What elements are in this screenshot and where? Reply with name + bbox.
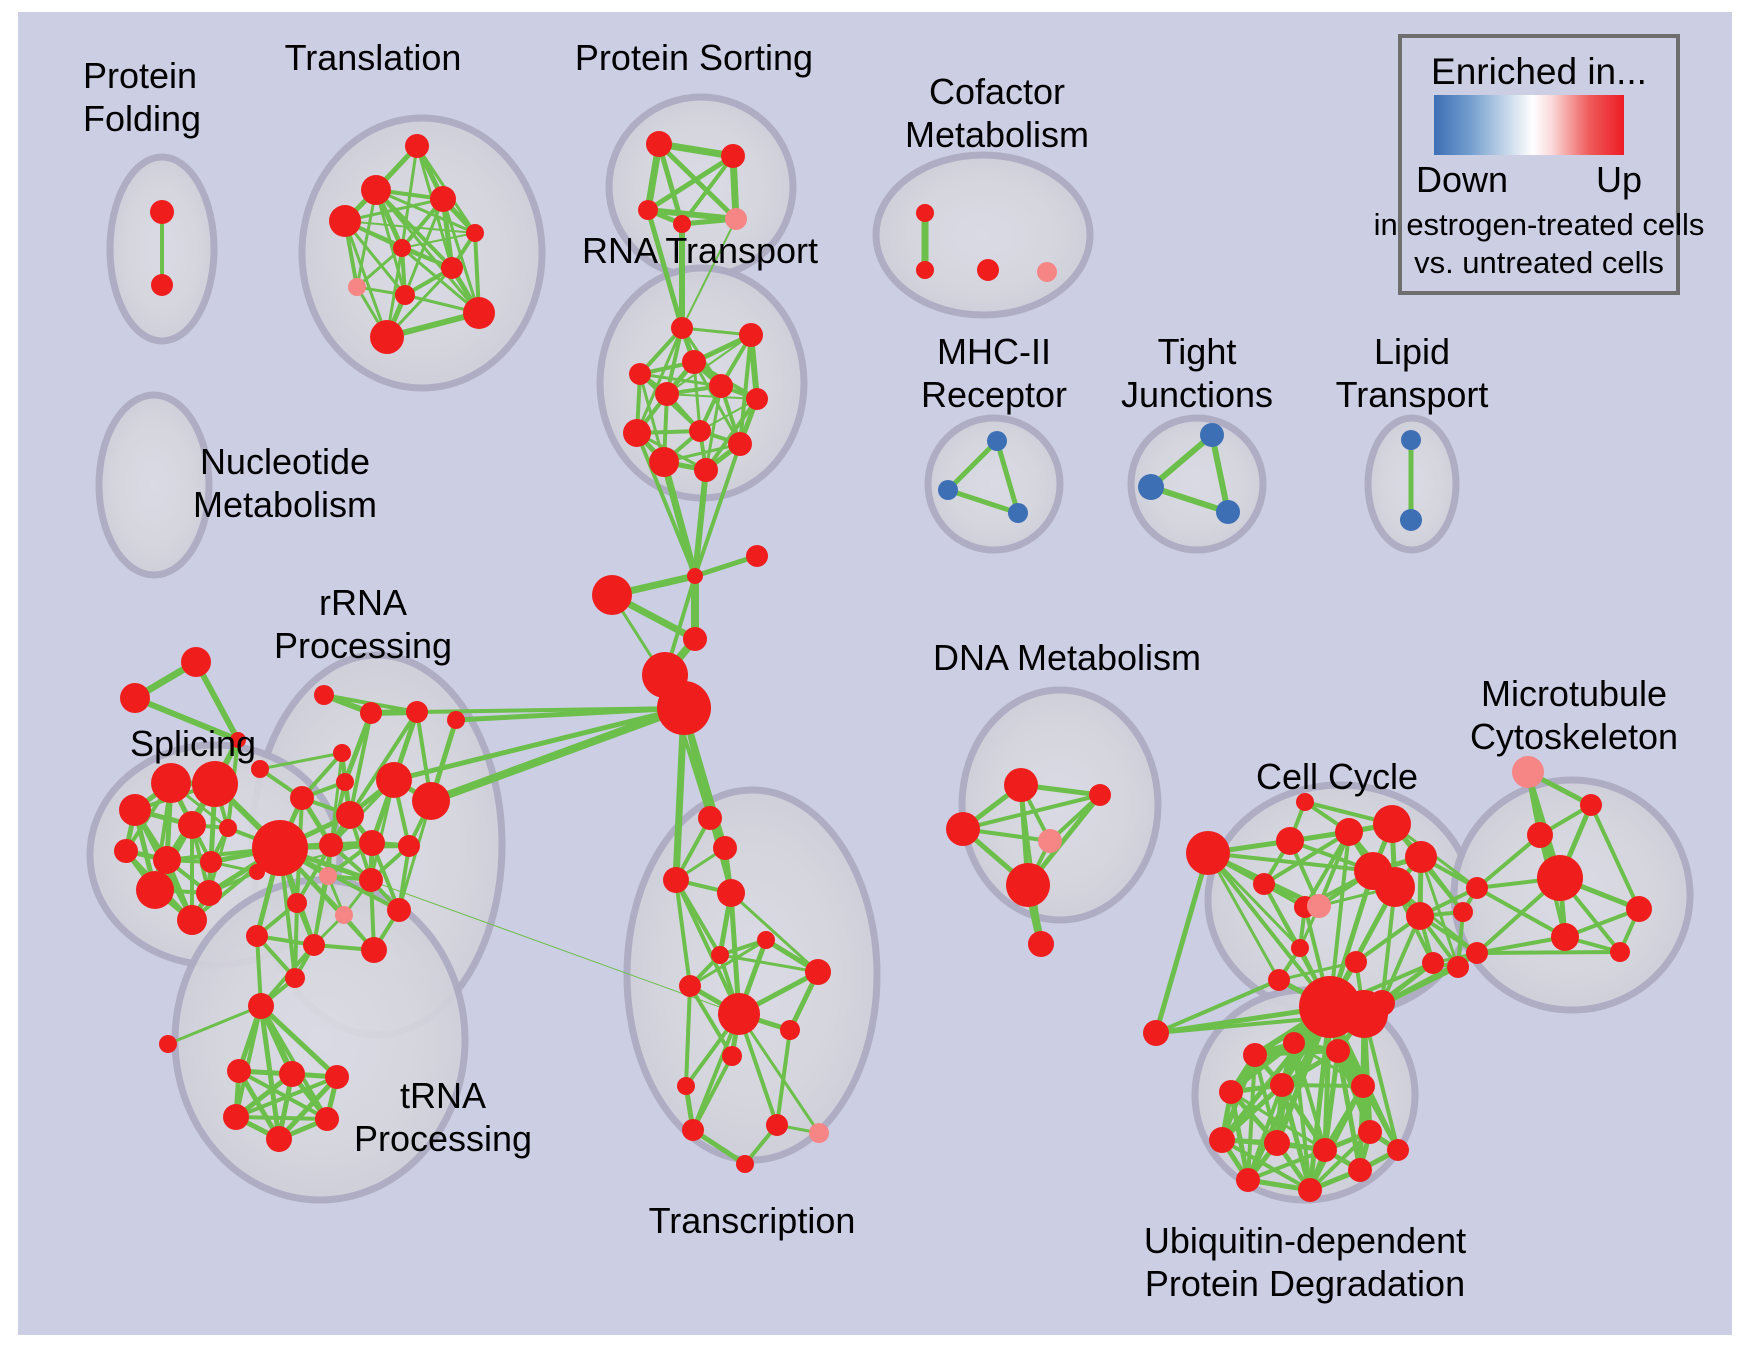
- cluster-label-line: Metabolism: [193, 484, 377, 525]
- network-node[interactable]: [709, 374, 733, 398]
- network-node[interactable]: [739, 323, 763, 347]
- network-node[interactable]: [159, 1035, 177, 1053]
- network-edge: [236, 1117, 327, 1119]
- network-node[interactable]: [718, 993, 760, 1035]
- legend-up-label: Up: [1596, 159, 1642, 200]
- network-node[interactable]: [679, 975, 701, 997]
- network-node[interactable]: [248, 993, 274, 1019]
- network-node[interactable]: [1345, 951, 1367, 973]
- network-node[interactable]: [766, 1114, 788, 1136]
- cluster-label-line: tRNA: [400, 1075, 486, 1116]
- cluster-label-line: Ubiquitin-dependent: [1144, 1220, 1466, 1261]
- network-node[interactable]: [938, 480, 958, 500]
- network-node[interactable]: [1447, 956, 1469, 978]
- network-node[interactable]: [1236, 1168, 1260, 1192]
- network-node[interactable]: [1610, 942, 1630, 962]
- network-node[interactable]: [1422, 952, 1444, 974]
- network-node[interactable]: [1004, 768, 1038, 802]
- network-node[interactable]: [977, 259, 999, 281]
- network-node[interactable]: [728, 432, 752, 456]
- network-node[interactable]: [1219, 1080, 1243, 1104]
- network-node[interactable]: [348, 278, 366, 296]
- network-node[interactable]: [151, 274, 173, 296]
- cluster-label-line: Translation: [285, 37, 462, 78]
- network-node[interactable]: [1253, 873, 1275, 895]
- network-node[interactable]: [387, 898, 411, 922]
- network-node[interactable]: [1527, 822, 1553, 848]
- cluster-label-line: Microtubule: [1481, 673, 1667, 714]
- network-node[interactable]: [916, 204, 934, 222]
- network-node[interactable]: [120, 683, 150, 713]
- network-node[interactable]: [447, 711, 465, 729]
- cluster-label-line: DNA Metabolism: [933, 637, 1201, 678]
- cluster-label-dna-metabolism: DNA Metabolism: [933, 637, 1201, 678]
- network-node[interactable]: [181, 647, 211, 677]
- network-node[interactable]: [200, 851, 222, 873]
- cluster-label-protein-sorting: Protein Sorting: [575, 37, 813, 78]
- network-node[interactable]: [370, 320, 404, 354]
- network-node[interactable]: [319, 867, 337, 885]
- network-node[interactable]: [406, 701, 428, 723]
- network-node[interactable]: [1283, 1032, 1305, 1054]
- network-node[interactable]: [1626, 896, 1652, 922]
- network-node[interactable]: [1008, 503, 1028, 523]
- network-node[interactable]: [329, 205, 361, 237]
- network-node[interactable]: [223, 1104, 249, 1130]
- network-node[interactable]: [285, 968, 305, 988]
- network-node[interactable]: [153, 846, 181, 874]
- cluster-label-transcription: Transcription: [649, 1200, 856, 1241]
- network-node[interactable]: [916, 261, 934, 279]
- network-node[interactable]: [430, 186, 456, 212]
- network-node[interactable]: [1276, 827, 1304, 855]
- cluster-label-line: Protein Sorting: [575, 37, 813, 78]
- network-node[interactable]: [694, 458, 718, 482]
- cluster-label-line: Protein Degradation: [1145, 1263, 1465, 1304]
- network-node[interactable]: [1351, 1074, 1375, 1098]
- network-node[interactable]: [736, 1155, 754, 1173]
- network-node[interactable]: [1551, 923, 1579, 951]
- cluster-label-line: Junctions: [1121, 374, 1273, 415]
- network-node[interactable]: [1291, 939, 1309, 957]
- network-node[interactable]: [1216, 500, 1240, 524]
- cluster-label-rna-transport: RNA Transport: [582, 230, 818, 271]
- network-node[interactable]: [1512, 756, 1544, 788]
- cluster-label-line: Transport: [1336, 374, 1489, 415]
- network-node[interactable]: [1307, 894, 1331, 918]
- network-node[interactable]: [711, 946, 729, 964]
- network-node[interactable]: [395, 285, 415, 305]
- cluster-label-line: Folding: [83, 98, 201, 139]
- cluster-label-line: Cell Cycle: [1256, 756, 1418, 797]
- network-node[interactable]: [405, 134, 429, 158]
- network-edge: [1282, 1085, 1363, 1086]
- cluster-label-line: Cytoskeleton: [1470, 716, 1678, 757]
- network-node[interactable]: [315, 1107, 339, 1131]
- network-node[interactable]: [246, 925, 268, 947]
- network-node[interactable]: [359, 868, 383, 892]
- network-node[interactable]: [319, 833, 343, 857]
- network-node[interactable]: [151, 763, 191, 803]
- network-node[interactable]: [780, 1020, 800, 1040]
- legend: Enriched in... Down Up in estrogen-treat…: [1374, 36, 1705, 293]
- network-node[interactable]: [1143, 1020, 1169, 1046]
- network-node[interactable]: [809, 1123, 829, 1143]
- cluster-label-line: Protein: [83, 55, 197, 96]
- cluster-label-line: Processing: [354, 1118, 532, 1159]
- network-node[interactable]: [1326, 1039, 1350, 1063]
- network-node[interactable]: [290, 786, 314, 810]
- network-node[interactable]: [335, 906, 353, 924]
- network-node[interactable]: [119, 794, 151, 826]
- network-node[interactable]: [725, 208, 747, 230]
- network-node[interactable]: [682, 350, 706, 374]
- network-node[interactable]: [1348, 1158, 1372, 1182]
- network-node[interactable]: [266, 1126, 292, 1152]
- network-node[interactable]: [663, 867, 689, 893]
- network-node[interactable]: [196, 880, 222, 906]
- network-node[interactable]: [1405, 841, 1437, 873]
- network-node[interactable]: [721, 144, 745, 168]
- cluster-label-line: Nucleotide: [200, 441, 370, 482]
- network-node[interactable]: [1375, 867, 1415, 907]
- network-node[interactable]: [252, 820, 308, 876]
- cluster-label-line: Processing: [274, 625, 452, 666]
- network-node[interactable]: [722, 1046, 742, 1066]
- network-node[interactable]: [1264, 1130, 1290, 1156]
- network-node[interactable]: [657, 681, 711, 735]
- cluster-label-line: Transcription: [649, 1200, 856, 1241]
- network-node[interactable]: [629, 363, 651, 385]
- network-node[interactable]: [646, 131, 672, 157]
- network-node[interactable]: [592, 575, 632, 615]
- legend-color-bar: [1434, 95, 1624, 155]
- network-node[interactable]: [689, 420, 711, 442]
- network-node[interactable]: [287, 893, 307, 913]
- enrichment-network-figure: ProteinFoldingTranslationProtein Sorting…: [0, 0, 1750, 1360]
- network-node[interactable]: [1089, 784, 1111, 806]
- legend-caption-line2: vs. untreated cells: [1414, 245, 1664, 280]
- network-node[interactable]: [746, 388, 768, 410]
- network-node[interactable]: [150, 200, 174, 224]
- network-node[interactable]: [466, 224, 484, 242]
- network-node[interactable]: [683, 627, 707, 651]
- network-node[interactable]: [361, 175, 391, 205]
- network-node[interactable]: [757, 931, 775, 949]
- network-node[interactable]: [623, 419, 651, 447]
- network-node[interactable]: [136, 871, 174, 909]
- network-node[interactable]: [698, 806, 722, 830]
- network-node[interactable]: [1038, 829, 1062, 853]
- network-node[interactable]: [1209, 1127, 1235, 1153]
- network-node[interactable]: [1138, 474, 1164, 500]
- network-node[interactable]: [1298, 1178, 1322, 1202]
- network-node[interactable]: [1358, 1120, 1382, 1144]
- network-node[interactable]: [463, 297, 495, 329]
- cluster-label-line: Receptor: [921, 374, 1067, 415]
- network-node[interactable]: [325, 1065, 349, 1089]
- cluster-label-cell-cycle: Cell Cycle: [1256, 756, 1418, 797]
- network-node[interactable]: [398, 835, 420, 857]
- network-node[interactable]: [1335, 818, 1363, 846]
- cluster-label-line: rRNA: [319, 582, 407, 623]
- cluster-label-line: Splicing: [130, 723, 256, 764]
- network-node[interactable]: [1580, 794, 1602, 816]
- legend-title: Enriched in...: [1431, 51, 1647, 92]
- network-node[interactable]: [746, 545, 768, 567]
- network-node[interactable]: [177, 905, 207, 935]
- network-node[interactable]: [677, 1077, 695, 1095]
- network-node[interactable]: [1200, 423, 1224, 447]
- network-node[interactable]: [1037, 262, 1057, 282]
- network-node[interactable]: [1387, 1139, 1409, 1161]
- network-node[interactable]: [360, 702, 382, 724]
- network-node[interactable]: [1466, 942, 1488, 964]
- cluster-label-line: MHC-II: [937, 331, 1051, 372]
- cluster-label-splicing: Splicing: [130, 723, 256, 764]
- network-node[interactable]: [336, 801, 364, 829]
- network-node[interactable]: [1537, 855, 1583, 901]
- network-node[interactable]: [359, 830, 385, 856]
- network-node[interactable]: [178, 811, 206, 839]
- network-node[interactable]: [219, 819, 237, 837]
- network-node[interactable]: [987, 431, 1007, 451]
- network-node[interactable]: [412, 782, 450, 820]
- network-node[interactable]: [1373, 805, 1411, 843]
- network-node[interactable]: [1340, 990, 1388, 1038]
- network-node[interactable]: [649, 447, 679, 477]
- cluster-label-line: Lipid: [1374, 331, 1450, 372]
- legend-down-label: Down: [1416, 159, 1508, 200]
- network-node[interactable]: [393, 239, 411, 257]
- network-svg: ProteinFoldingTranslationProtein Sorting…: [0, 0, 1750, 1360]
- cluster-hull-cofactor-metabolism: [876, 155, 1090, 315]
- network-node[interactable]: [441, 257, 463, 279]
- network-node[interactable]: [1270, 1073, 1294, 1097]
- network-node[interactable]: [227, 1059, 251, 1083]
- network-node[interactable]: [671, 317, 693, 339]
- network-node[interactable]: [1313, 1138, 1337, 1162]
- network-node[interactable]: [1466, 877, 1488, 899]
- network-node[interactable]: [805, 959, 831, 985]
- network-node[interactable]: [114, 839, 138, 863]
- network-node[interactable]: [333, 744, 351, 762]
- cluster-label-line: Tight: [1158, 331, 1237, 372]
- cluster-label-line: Metabolism: [905, 114, 1089, 155]
- network-node[interactable]: [1406, 902, 1434, 930]
- network-node[interactable]: [717, 879, 745, 907]
- network-node[interactable]: [376, 762, 412, 798]
- cluster-label-line: RNA Transport: [582, 230, 818, 271]
- network-node[interactable]: [687, 568, 703, 584]
- network-node[interactable]: [336, 773, 354, 791]
- network-node[interactable]: [303, 934, 325, 956]
- network-node[interactable]: [1453, 902, 1473, 922]
- legend-caption-line1: in estrogen-treated cells: [1374, 207, 1705, 242]
- network-node[interactable]: [1400, 509, 1422, 531]
- network-node[interactable]: [192, 761, 238, 807]
- network-node[interactable]: [279, 1061, 305, 1087]
- network-node[interactable]: [1268, 969, 1290, 991]
- network-node[interactable]: [1243, 1043, 1267, 1067]
- cluster-label-line: Cofactor: [929, 71, 1065, 112]
- network-node[interactable]: [946, 812, 980, 846]
- cluster-label-translation: Translation: [285, 37, 462, 78]
- network-node[interactable]: [361, 937, 387, 963]
- network-node[interactable]: [1028, 931, 1054, 957]
- network-edge: [1477, 952, 1620, 953]
- network-node[interactable]: [682, 1119, 704, 1141]
- network-node[interactable]: [1186, 831, 1230, 875]
- network-node[interactable]: [713, 836, 737, 860]
- network-node[interactable]: [655, 382, 679, 406]
- network-node[interactable]: [314, 685, 334, 705]
- network-node[interactable]: [1401, 430, 1421, 450]
- network-node[interactable]: [1006, 863, 1050, 907]
- network-node[interactable]: [638, 200, 658, 220]
